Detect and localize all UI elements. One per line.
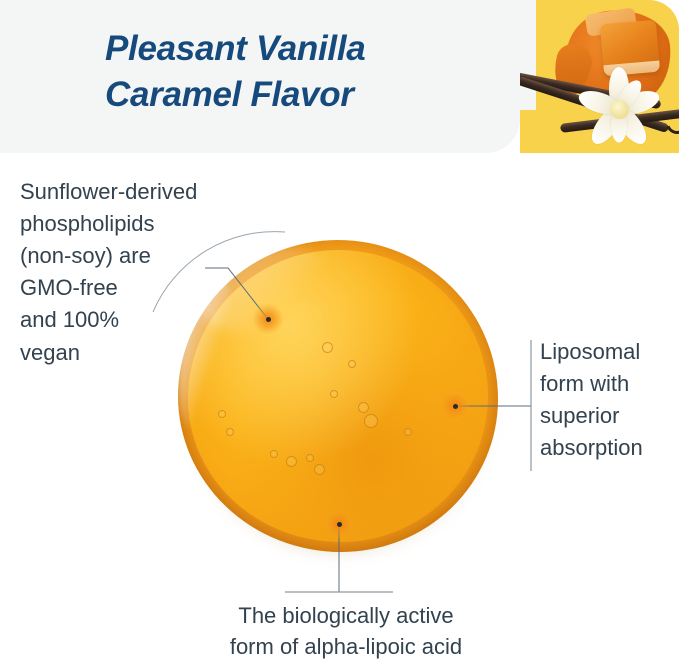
callout-text-liposomal: Liposomal form with superior absorption [540,336,679,464]
callout-line: (non-soy) are [20,240,270,272]
gel-bubble [218,410,226,418]
vanilla-flower-icon [576,66,662,152]
callout-dot-active-form[interactable] [324,509,354,539]
gel-bubble [330,390,338,398]
flower-center-icon [610,100,629,119]
callout-line: form with [540,368,679,400]
callout-line: Liposomal [540,336,679,368]
callout-line: superior [540,400,679,432]
callout-text-active-form: The biologically active form of alpha-li… [186,600,506,662]
callout-line: and 100% [20,304,270,336]
gel-bubble [286,456,297,467]
gel-bubble [314,464,325,475]
page-title: Pleasant Vanilla Caramel Flavor [105,26,505,117]
dot-core-icon [337,522,342,527]
callout-line: vegan [20,337,270,369]
callout-line: absorption [540,432,679,464]
dot-core-icon [266,317,271,322]
gel-bubble [404,428,412,436]
panel-notch [520,0,536,110]
gel-bubble [226,428,234,436]
callout-text-sunflower: Sunflower-derived phospholipids (non-soy… [20,176,270,369]
callout-line: phospholipids [20,208,270,240]
gel-bubble [322,342,333,353]
gel-bubble [270,450,278,458]
gel-bubble [306,454,314,462]
infographic-canvas: Pleasant Vanilla Caramel Flavor [0,0,679,672]
callout-line: form of alpha-lipoic acid [186,631,506,662]
gel-bubble [364,414,378,428]
callout-dot-liposomal[interactable] [440,391,470,421]
callout-line: GMO-free [20,272,270,304]
callout-line: Sunflower-derived [20,176,270,208]
callout-dot-sunflower[interactable] [253,304,283,334]
gel-bubble [348,360,356,368]
gel-bubble [358,402,369,413]
page-title-line-2: Caramel Flavor [105,72,505,118]
callout-line: The biologically active [186,600,506,631]
page-title-line-1: Pleasant Vanilla [105,29,365,68]
flavor-image-panel [520,0,679,153]
dot-core-icon [453,404,458,409]
